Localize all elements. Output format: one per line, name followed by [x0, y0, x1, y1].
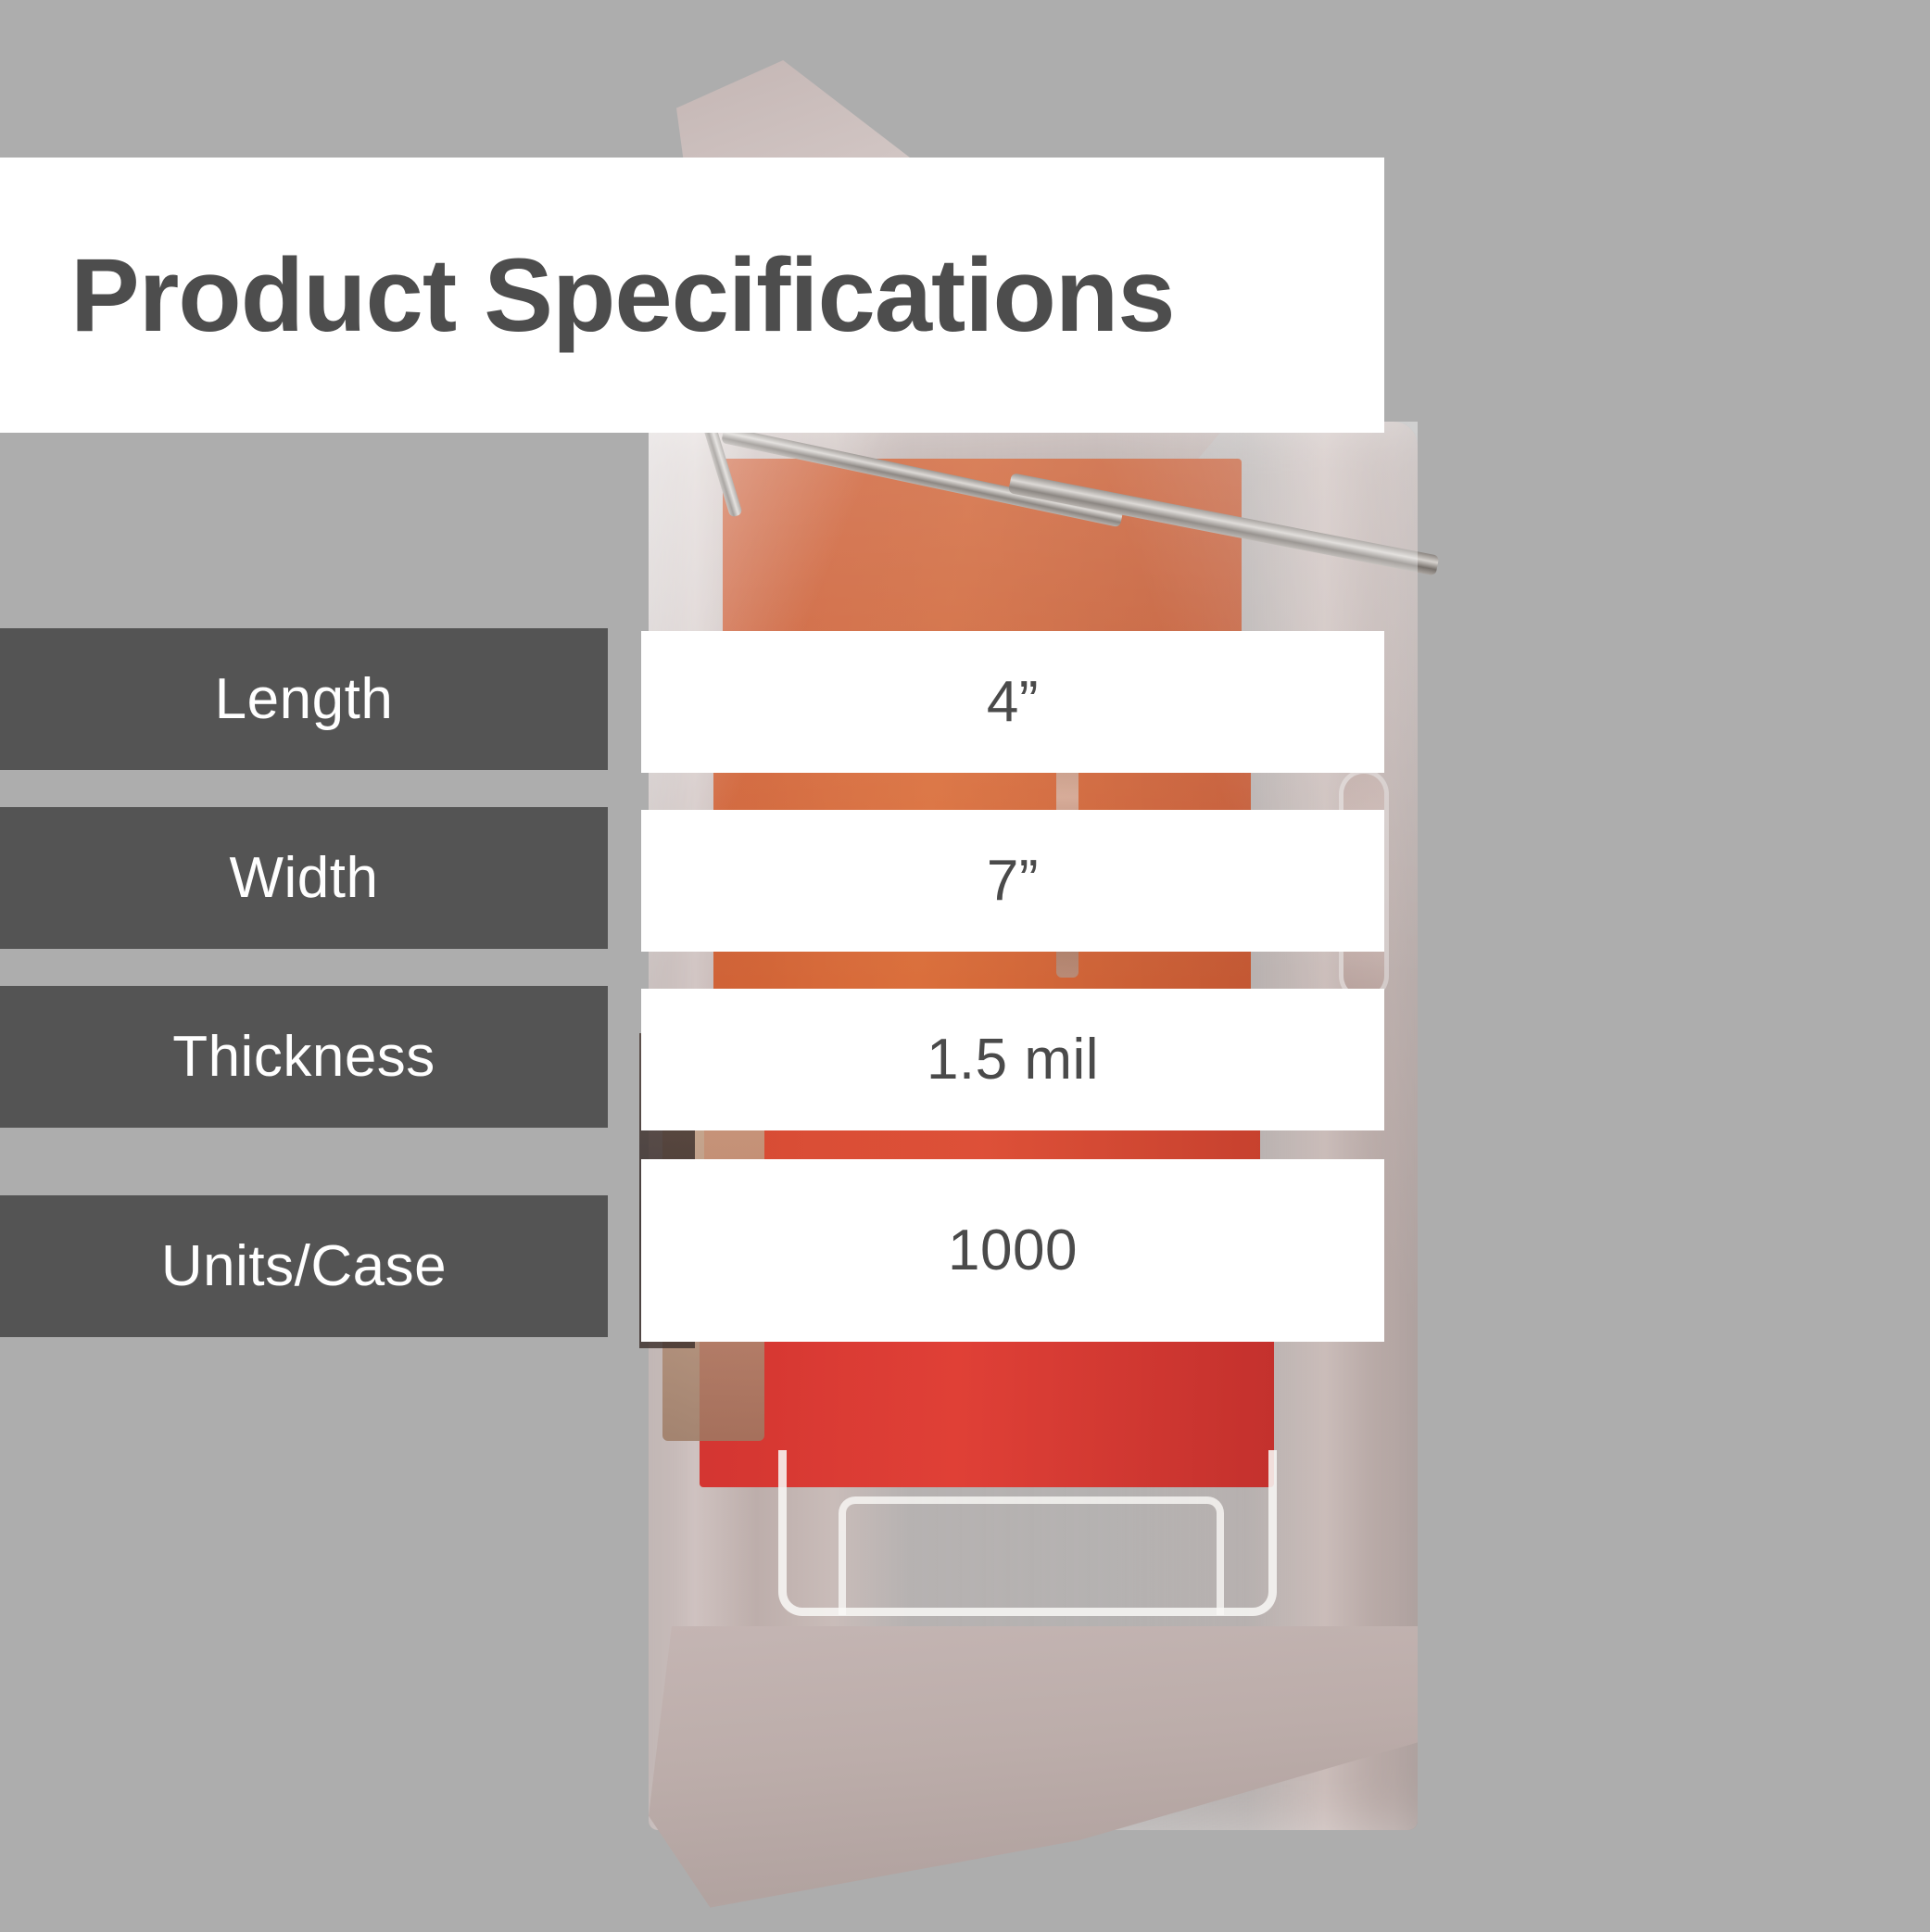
title-banner: Product Specifications — [0, 158, 1384, 433]
spec-label-text-width: Width — [230, 845, 379, 911]
spec-value-text-length: 4” — [987, 669, 1039, 735]
spec-value-text-width: 7” — [987, 848, 1039, 914]
spec-value-cell-length: 4” — [641, 631, 1384, 773]
spec-row-width: Width 7” — [0, 807, 1384, 949]
spec-label-cell-width: Width — [0, 807, 608, 949]
spec-value-cell-width: 7” — [641, 810, 1384, 952]
spec-value-cell-units-per-case: 1000 — [641, 1159, 1384, 1342]
spec-row-thickness: Thickness 1.5 mil — [0, 986, 1384, 1128]
spec-label-text-units-per-case: Units/Case — [161, 1233, 447, 1299]
spec-label-text-length: Length — [215, 666, 394, 732]
spec-label-cell-units-per-case: Units/Case — [0, 1195, 608, 1337]
spec-value-text-thickness: 1.5 mil — [927, 1027, 1099, 1092]
spec-label-cell-thickness: Thickness — [0, 986, 608, 1128]
bag-handle-inner-outline — [839, 1496, 1224, 1615]
spec-value-text-units-per-case: 1000 — [948, 1218, 1078, 1283]
spec-row-units-per-case: Units/Case 1000 — [0, 1195, 1384, 1337]
spec-value-cell-thickness: 1.5 mil — [641, 989, 1384, 1130]
spec-label-cell-length: Length — [0, 628, 608, 770]
spec-label-text-thickness: Thickness — [172, 1024, 435, 1090]
page-title: Product Specifications — [0, 244, 1175, 347]
spec-row-length: Length 4” — [0, 628, 1384, 770]
